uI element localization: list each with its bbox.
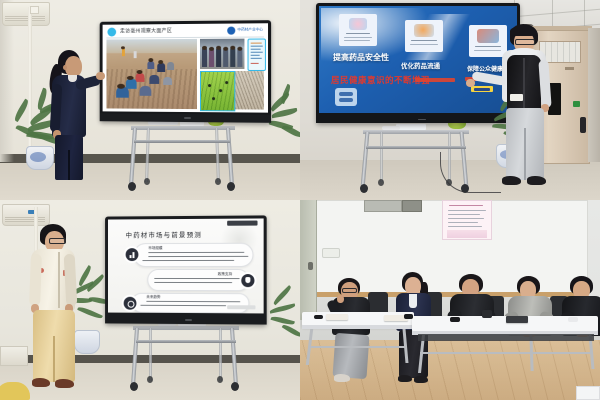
smartboard-top-left[interactable]: 走访毫州观察大面产区 中药材产业中心: [100, 20, 271, 123]
caster-back-left: [378, 179, 384, 186]
hand-pointing: [466, 79, 475, 87]
presenter-cream-jacket: [28, 224, 86, 396]
presenter-navy-suit: [48, 50, 100, 182]
field-harvest-photo: [106, 39, 197, 109]
photo-collage: 走访毫州观察大面产区 中药材产业中心: [0, 0, 600, 400]
dark-object: [482, 310, 492, 318]
cart-leg-right: [226, 128, 234, 186]
air-conditioner-vent: [5, 217, 45, 222]
wall-frame-2: [402, 200, 422, 212]
hand-on-chin: [337, 295, 344, 303]
tv-lower-bezel: [105, 316, 267, 325]
arm-left: [29, 254, 42, 306]
slide-brand-tag: [227, 221, 257, 226]
slide-logo: 中药材产业中心: [227, 25, 266, 35]
card-market-scale: 市场规模: [133, 243, 253, 267]
caster-front-left: [360, 184, 368, 193]
slide-heading-2: 优化药品流通: [401, 60, 440, 70]
grey-trousers: [333, 333, 370, 379]
shield-icon: [239, 272, 256, 289]
wall-switch[interactable]: [30, 6, 39, 14]
head: [65, 56, 82, 77]
shoe-right: [414, 376, 428, 383]
caster-back-right: [215, 178, 221, 185]
cart-leg-back-left: [145, 128, 150, 182]
panel-bottom-right: [300, 200, 600, 400]
tv-cart: [130, 318, 242, 392]
table-right-crossbar: [420, 352, 592, 354]
tv-cart: [128, 120, 238, 192]
card-3-heading: 未来趋势: [146, 295, 160, 300]
wall-frame-1: [364, 200, 402, 212]
caster-front-right: [227, 182, 235, 191]
side-door[interactable]: [300, 200, 317, 320]
slide-bullet-dot: [107, 28, 116, 37]
presenter-black-vest: [496, 24, 560, 194]
drying-nets-photo: [235, 71, 264, 110]
hair-fringe: [510, 26, 536, 36]
wall-poster: [442, 200, 492, 240]
paper-sheet[interactable]: [576, 386, 600, 400]
papers-stack: [396, 124, 426, 130]
ear: [63, 65, 67, 70]
group-photo: [200, 39, 244, 69]
cart-leg-back-right: [215, 128, 220, 182]
shoe-left: [502, 176, 521, 185]
trouser-split: [53, 336, 55, 382]
seated-person-1: [328, 278, 378, 386]
air-conditioner: [2, 204, 50, 226]
door-number: [565, 67, 574, 70]
cart-leg-back-left: [380, 132, 383, 182]
pants-split: [524, 128, 526, 180]
vest-zip: [523, 58, 525, 108]
cabinet-low: [0, 346, 28, 366]
shoe-left: [32, 378, 50, 387]
slide-logo-text: 中药材产业中心: [237, 27, 263, 32]
notebook-1[interactable]: [326, 314, 348, 320]
cart-leg-left: [361, 132, 370, 188]
vest-name-tag: [510, 94, 523, 101]
table-left-edge: [302, 325, 414, 329]
caster-front-right: [231, 382, 239, 391]
cart-crossbar: [366, 146, 466, 149]
table-left-crossbar: [308, 346, 406, 348]
arm-right: [538, 60, 551, 109]
tv-lower-bezel: [100, 113, 271, 123]
air-conditioner: [2, 2, 50, 26]
glasses-icon: [49, 238, 66, 244]
smartboard-bottom-left[interactable]: 中药材市场与前景预测 市场规模 政策支持: [105, 215, 267, 324]
cart-leg-right: [230, 328, 238, 386]
slide-heading-1: 提高药品安全性: [333, 52, 389, 63]
database-icon: [335, 88, 357, 106]
leg-split: [68, 150, 70, 180]
white-shirt: [409, 294, 417, 308]
card-policy-support: 政策支持: [147, 269, 249, 291]
red-subline-2: [415, 78, 455, 82]
panel-top-right: 提高药品安全性 优化药品流通 保障公众健康 居民健康意识的不断增强: [300, 0, 600, 200]
shoe-right: [527, 176, 546, 185]
panel-top-left: 走访毫州观察大面产区 中药材产业中心: [0, 0, 300, 200]
slide-footer-mark: [227, 305, 255, 309]
chart-icon: [124, 246, 141, 263]
phone-3[interactable]: [450, 317, 460, 322]
arm-right: [64, 254, 78, 307]
shoe: [334, 374, 350, 382]
card-1-heading: 市场规模: [148, 246, 162, 251]
slide-card-2: [405, 20, 443, 52]
air-conditioner-vent: [5, 16, 45, 21]
door-handle[interactable]: [580, 117, 586, 133]
caster-back-left: [144, 178, 150, 185]
cart-leg-left: [129, 128, 137, 186]
door-sign-icon: [573, 101, 580, 107]
green-paddy-photo: [200, 71, 235, 111]
cart-shelf: [363, 130, 469, 134]
door-handle[interactable]: [308, 262, 313, 270]
panel-bottom-left: 中药材市场与前景预测 市场规模 政策支持: [0, 200, 300, 400]
shoe-left: [398, 375, 412, 382]
chip-text: [474, 88, 490, 91]
glasses-icon: [342, 288, 357, 293]
cart-leg-back-right: [219, 328, 222, 381]
cart-leg-back-left: [149, 328, 152, 381]
wall-socket[interactable]: [322, 248, 340, 258]
jacket-zip: [58, 252, 60, 308]
hand: [96, 72, 105, 80]
slide-card-1: [339, 14, 377, 46]
slide-top-left: 走访毫州观察大面产区 中药材产业中心: [103, 23, 268, 112]
caster-front-left: [130, 382, 138, 391]
slide-bottom-left: 中药材市场与前景预测 市场规模 政策支持: [108, 218, 264, 313]
shoe-right: [55, 379, 74, 388]
slide-note-box: [248, 38, 266, 71]
card-2-heading: 政策支持: [218, 272, 232, 277]
remote-control[interactable]: [382, 126, 400, 130]
wall-right-edge: [588, 28, 600, 162]
slide-title-top-left: 走访毫州观察大面产区: [120, 27, 172, 34]
cart-crossbar: [136, 340, 236, 343]
slide-title-bottom-left: 中药材市场与前景预测: [126, 229, 202, 239]
caster-back-left: [147, 376, 153, 383]
notebook-3[interactable]: [506, 316, 528, 323]
cart-leg-left: [131, 328, 139, 386]
caster-front-left: [128, 182, 136, 191]
table-underframe: [418, 334, 594, 341]
cart-crossbar: [134, 140, 230, 143]
glasses-icon: [515, 39, 535, 45]
card-future-trend: 未来趋势: [132, 293, 250, 314]
target-icon: [122, 295, 139, 312]
plant-right: [266, 284, 300, 360]
phone-2[interactable]: [404, 314, 413, 319]
phone-4[interactable]: [568, 317, 578, 322]
phone-1[interactable]: [314, 315, 323, 319]
caster-back-right: [217, 376, 223, 383]
